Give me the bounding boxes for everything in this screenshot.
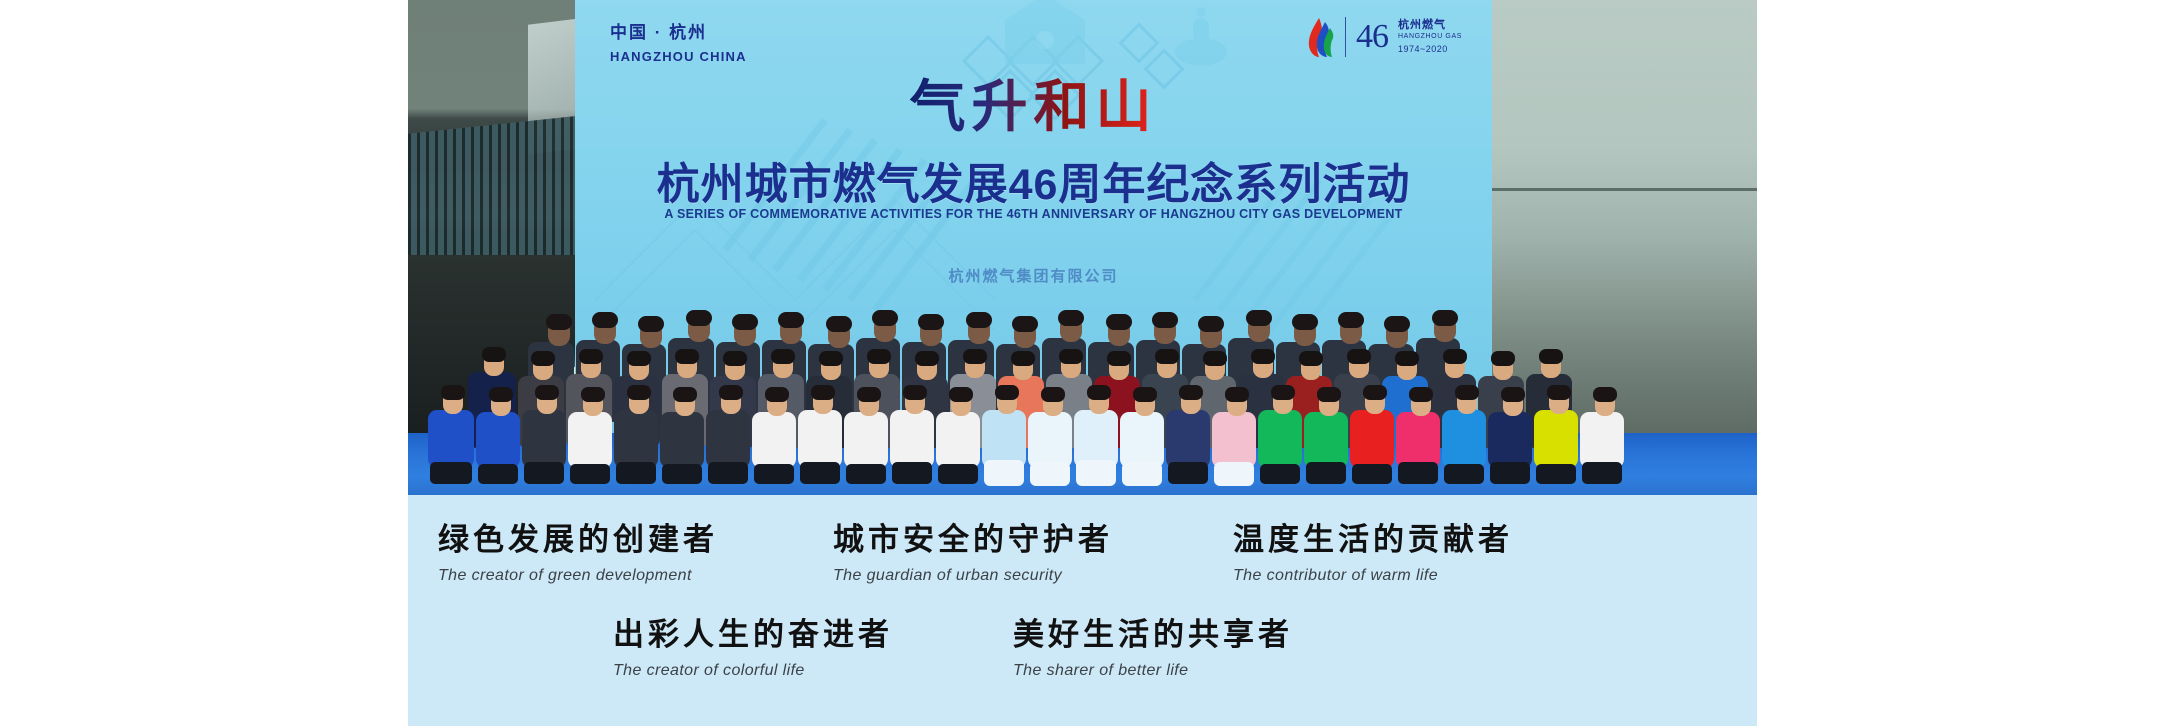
logo-divider (1345, 17, 1346, 57)
flame-icon (1305, 16, 1335, 58)
slogan-en: The guardian of urban security (833, 567, 1113, 585)
stage-company-banner: 杭州燃气集团有限公司 (575, 265, 1492, 286)
logo-company-en: HANGZHOU GAS (1398, 33, 1462, 42)
event-title-cn: 杭州城市燃气发展46周年纪念系列活动 (575, 150, 1492, 212)
slogan-green-development: 绿色发展的创建者 The creator of green developmen… (438, 523, 718, 585)
slogan-row-2: 出彩人生的奋进者 The creator of colorful life 美好… (408, 618, 1757, 680)
slogan-en: The sharer of better life (1013, 662, 1293, 680)
slogan-cn: 城市安全的守护者 (833, 523, 1113, 557)
slogan-colorful-life: 出彩人生的奋进者 The creator of colorful life (613, 618, 893, 680)
logo-company-cn: 杭州燃气 (1398, 19, 1462, 33)
crowd-silhouettes (408, 300, 1757, 495)
artistic-logotype-text: 气升和山 (910, 75, 1158, 138)
artistic-logotype: 气升和山 (575, 62, 1492, 143)
logo-anniversary-number: 46 (1356, 20, 1388, 54)
slogan-panel: 绿色发展的创建者 The creator of green developmen… (408, 495, 1757, 726)
slogan-row-1: 绿色发展的创建者 The creator of green developmen… (408, 523, 1757, 585)
slogan-cn: 美好生活的共享者 (1013, 618, 1293, 652)
slogan-en: The contributor of warm life (1233, 567, 1513, 585)
group-photo: 中国 · 杭州 HANGZHOU CHINA 46 杭州燃气 (408, 0, 1757, 495)
event-title-en: A SERIES OF COMMEMORATIVE ACTIVITIES FOR… (575, 207, 1492, 221)
screen-locale: 中国 · 杭州 HANGZHOU CHINA (610, 22, 747, 65)
crowd-group (408, 300, 1757, 495)
slogan-en: The creator of green development (438, 567, 718, 585)
slogan-warm-life: 温度生活的贡献者 The contributor of warm life (1233, 523, 1513, 585)
hangzhou-gas-logo: 46 杭州燃气 HANGZHOU GAS 1974~2020 (1305, 16, 1462, 58)
content-column: 中国 · 杭州 HANGZHOU CHINA 46 杭州燃气 (408, 0, 1757, 726)
slogan-cn: 绿色发展的创建者 (438, 523, 718, 557)
page-root: 中国 · 杭州 HANGZHOU CHINA 46 杭州燃气 (0, 0, 2179, 726)
locale-cn: 中国 · 杭州 (610, 22, 747, 45)
slogan-cn: 出彩人生的奋进者 (613, 618, 893, 652)
logo-years: 1974~2020 (1398, 44, 1462, 55)
slogan-better-life: 美好生活的共享者 The sharer of better life (1013, 618, 1293, 680)
slogan-cn: 温度生活的贡献者 (1233, 523, 1513, 557)
logo-wordmark: 杭州燃气 HANGZHOU GAS 1974~2020 (1398, 19, 1462, 55)
slogan-en: The creator of colorful life (613, 662, 893, 680)
slogan-urban-security: 城市安全的守护者 The guardian of urban security (833, 523, 1113, 585)
